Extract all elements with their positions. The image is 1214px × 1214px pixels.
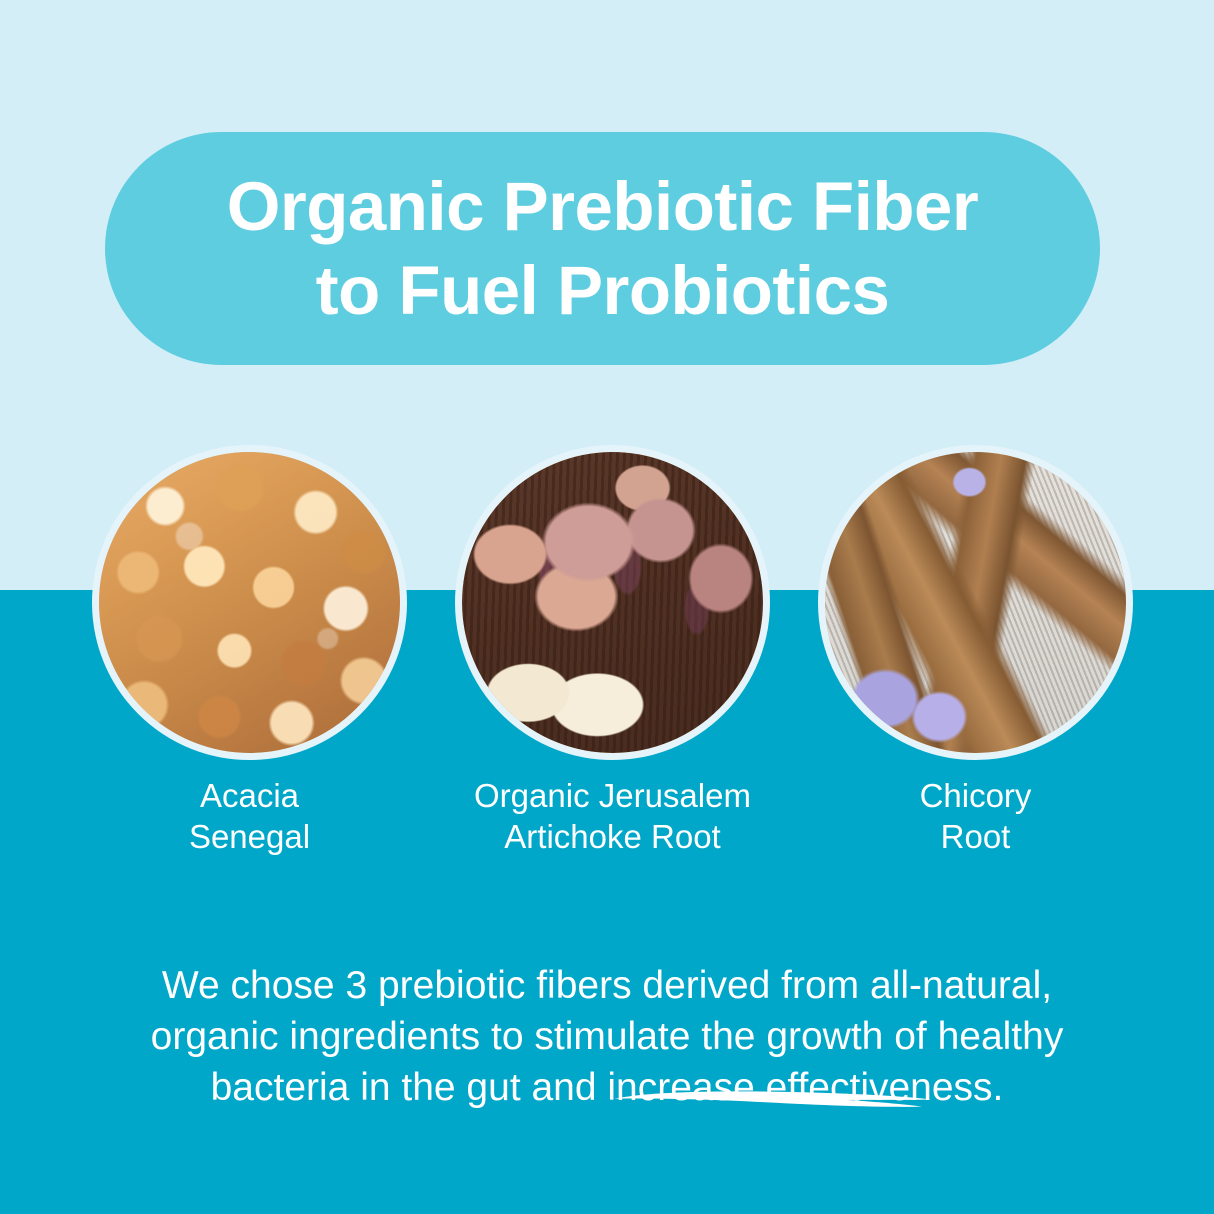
ingredient-item-chicory-root: Chicory Root [818, 445, 1133, 760]
ingredient-list: Acacia Senegal Organic Jerusalem Articho… [0, 445, 1214, 760]
headline-line-2: to Fuel Probiotics [316, 249, 890, 333]
infographic-canvas: Organic Prebiotic Fiber to Fuel Probioti… [0, 0, 1214, 1214]
artichoke-photo-fill [462, 452, 763, 753]
ingredient-label-line-1: Acacia [62, 775, 437, 816]
chicory-photo-fill [825, 452, 1126, 753]
ingredient-label-acacia: Acacia Senegal [62, 775, 437, 857]
ingredient-label-line-1: Organic Jerusalem [425, 775, 800, 816]
acacia-photo-fill [99, 452, 400, 753]
ingredient-label-line-2: Root [788, 816, 1163, 857]
ingredient-label-line-2: Artichoke Root [425, 816, 800, 857]
jerusalem-artichoke-roots-photo [455, 445, 770, 760]
body-line-1: We chose 3 prebiotic fibers derived from… [90, 960, 1124, 1011]
body-line-3: bacteria in the gut and increase effecti… [90, 1062, 1124, 1113]
headline-line-1: Organic Prebiotic Fiber [227, 165, 979, 249]
headline-banner: Organic Prebiotic Fiber to Fuel Probioti… [105, 132, 1100, 365]
ingredient-label-chicory: Chicory Root [788, 775, 1163, 857]
ingredient-label-line-1: Chicory [788, 775, 1163, 816]
chicory-root-and-flowers-photo [818, 445, 1133, 760]
body-paragraph: We chose 3 prebiotic fibers derived from… [90, 960, 1124, 1113]
ingredient-item-acacia-senegal: Acacia Senegal [92, 445, 407, 760]
ingredient-label-artichoke: Organic Jerusalem Artichoke Root [425, 775, 800, 857]
acacia-gum-resin-crystals-photo [92, 445, 407, 760]
brush-underline-decoration [612, 1089, 934, 1111]
body-line-2: organic ingredients to stimulate the gro… [90, 1011, 1124, 1062]
ingredient-item-jerusalem-artichoke-root: Organic Jerusalem Artichoke Root [455, 445, 770, 760]
ingredient-label-line-2: Senegal [62, 816, 437, 857]
